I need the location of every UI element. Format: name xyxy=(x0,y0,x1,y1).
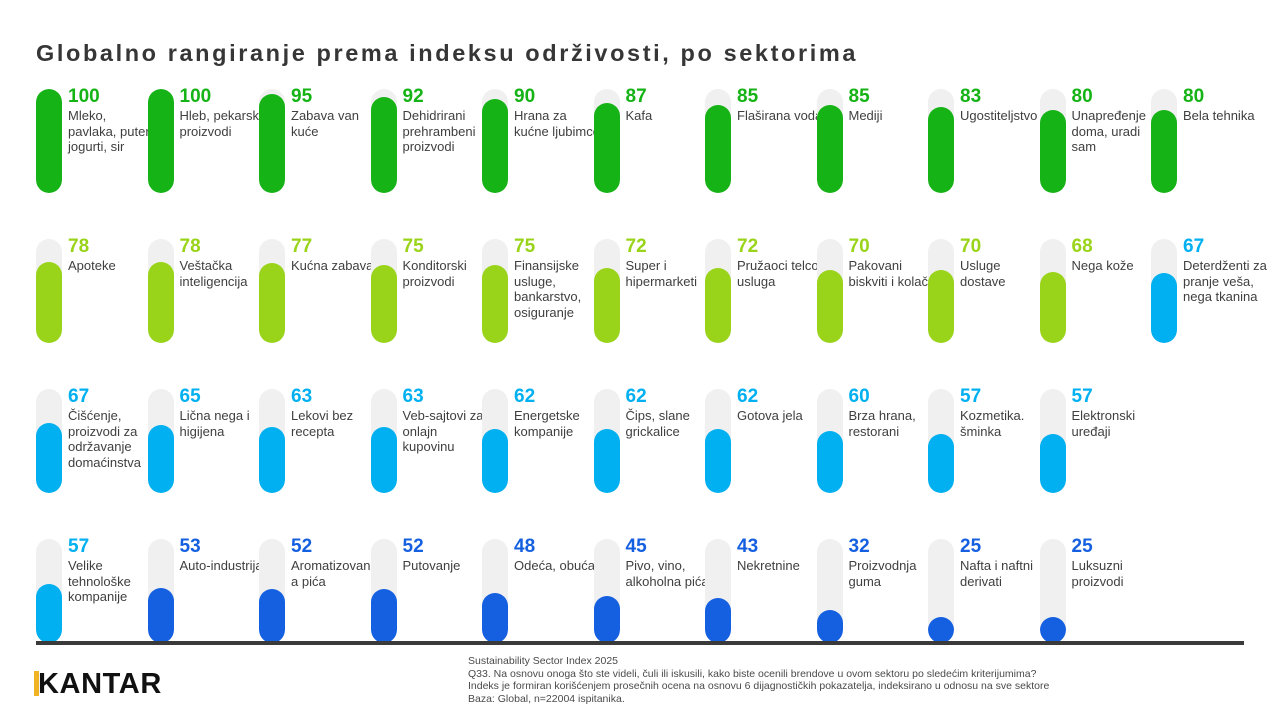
bar-label: Auto-industrija xyxy=(180,558,266,574)
bar-label: Finansijske usluge, bankarstvo, osiguran… xyxy=(514,258,600,320)
bar-text-group: 43Nekretnine xyxy=(737,536,823,574)
bar-row: 67Čišćenje, proizvodi za održavanje doma… xyxy=(36,386,1248,536)
sector-bar-item[interactable]: 60Brza hrana, restorani xyxy=(817,386,934,536)
bar-text-group: 75Konditorski proizvodi xyxy=(403,236,489,289)
bar-value: 65 xyxy=(180,386,266,407)
bar-text-group: 67Čišćenje, proizvodi za održavanje doma… xyxy=(68,386,154,470)
sector-bar-item[interactable]: 85Mediji xyxy=(817,86,934,236)
bar-fill xyxy=(36,89,62,193)
page-title: Globalno rangiranje prema indeksu održiv… xyxy=(36,40,858,67)
bar-fill xyxy=(148,262,174,343)
bar-fill xyxy=(705,268,731,343)
sector-bar-item[interactable]: 68Nega kože xyxy=(1040,236,1157,386)
bar-label: Kafa xyxy=(626,108,712,124)
bar-label: Bela tehnika xyxy=(1183,108,1269,124)
bar-value: 57 xyxy=(1072,386,1158,407)
bar-track xyxy=(371,539,397,643)
bar-label: Kućna zabava xyxy=(291,258,377,274)
bar-value: 72 xyxy=(737,236,823,257)
bar-value: 75 xyxy=(403,236,489,257)
bar-track xyxy=(148,239,174,343)
bar-label: Odeća, obuća xyxy=(514,558,600,574)
bar-fill xyxy=(148,425,174,493)
sector-bar-item[interactable]: 90Hrana za kućne ljubimce xyxy=(482,86,599,236)
sector-bar-item[interactable]: 70Usluge dostave xyxy=(928,236,1045,386)
bar-label: Zabava van kuće xyxy=(291,108,377,139)
bar-value: 52 xyxy=(403,536,489,557)
sector-bar-item[interactable]: 67Deterdženti za pranje veša, nega tkani… xyxy=(1151,236,1268,386)
bar-label: Nega kože xyxy=(1072,258,1158,274)
bar-fill xyxy=(705,105,731,193)
sector-bar-item[interactable]: 67Čišćenje, proizvodi za održavanje doma… xyxy=(36,386,153,536)
bar-track xyxy=(1040,389,1066,493)
footnote-line: Sustainability Sector Index 2025 xyxy=(468,655,1258,668)
bar-label: Super i hipermarketi xyxy=(626,258,712,289)
bar-text-group: 52Aromatizovana pića xyxy=(291,536,377,589)
sector-bar-item[interactable]: 85Flaširana voda xyxy=(705,86,822,236)
bar-track xyxy=(259,389,285,493)
bar-text-group: 70Pakovani biskviti i kolači xyxy=(849,236,935,289)
bar-fill xyxy=(148,588,174,643)
bar-fill xyxy=(817,105,843,193)
bar-fill xyxy=(1151,273,1177,343)
bar-value: 77 xyxy=(291,236,377,257)
bar-label: Mleko, pavlaka, puter, jogurti, sir xyxy=(68,108,154,155)
bar-value: 70 xyxy=(849,236,935,257)
bar-track xyxy=(371,389,397,493)
bar-track xyxy=(594,389,620,493)
bar-track xyxy=(1040,239,1066,343)
bar-track xyxy=(817,389,843,493)
bar-text-group: 80Bela tehnika xyxy=(1183,86,1269,124)
bar-label: Pivo, vino, alkoholna pića xyxy=(626,558,712,589)
sector-bar-item[interactable]: 65Lična nega i higijena xyxy=(148,386,265,536)
bar-fill xyxy=(482,99,508,193)
bar-label: Deterdženti za pranje veša, nega tkanina xyxy=(1183,258,1269,305)
bar-text-group: 32Proizvodnja guma xyxy=(849,536,935,589)
bar-row: 100Mleko, pavlaka, puter, jogurti, sir10… xyxy=(36,86,1248,236)
footnote-block: Sustainability Sector Index 2025Q33. Na … xyxy=(468,655,1258,705)
bar-track xyxy=(928,539,954,643)
bar-value: 57 xyxy=(68,536,154,557)
bar-text-group: 57Velike tehnološke kompanije xyxy=(68,536,154,605)
bar-fill xyxy=(594,429,620,493)
sector-bar-item[interactable]: 75Finansijske usluge, bankarstvo, osigur… xyxy=(482,236,599,386)
sector-bar-item[interactable]: 87Kafa xyxy=(594,86,711,236)
footnote-line: Baza: Global, n=22004 ispitanika. xyxy=(468,693,1258,706)
bar-track xyxy=(482,539,508,643)
bar-text-group: 100Hleb, pekarski proizvodi xyxy=(180,86,266,139)
sector-bar-item[interactable]: 62Gotova jela xyxy=(705,386,822,536)
sector-bar-item[interactable]: 77Kućna zabava xyxy=(259,236,376,386)
bar-value: 25 xyxy=(960,536,1046,557)
bar-text-group: 85Mediji xyxy=(849,86,935,124)
bar-value: 43 xyxy=(737,536,823,557)
bar-value: 68 xyxy=(1072,236,1158,257)
bar-text-group: 60Brza hrana, restorani xyxy=(849,386,935,439)
sector-bar-item[interactable]: 80Bela tehnika xyxy=(1151,86,1268,236)
bar-label: Čips, slane grickalice xyxy=(626,408,712,439)
sector-bar-item[interactable]: 57Kozmetika. šminka xyxy=(928,386,1045,536)
bar-track xyxy=(594,539,620,643)
bar-track xyxy=(371,239,397,343)
bar-value: 60 xyxy=(849,386,935,407)
bar-value: 45 xyxy=(626,536,712,557)
bar-fill xyxy=(817,270,843,343)
bar-track xyxy=(928,389,954,493)
bar-track xyxy=(36,389,62,493)
bar-text-group: 67Deterdženti za pranje veša, nega tkani… xyxy=(1183,236,1269,305)
bar-track xyxy=(928,239,954,343)
bar-label: Lekovi bez recepta xyxy=(291,408,377,439)
sector-bar-item[interactable]: 63Lekovi bez recepta xyxy=(259,386,376,536)
bar-fill xyxy=(594,268,620,343)
bar-value: 72 xyxy=(626,236,712,257)
bar-fill xyxy=(371,97,397,193)
bar-text-group: 95Zabava van kuće xyxy=(291,86,377,139)
bar-label: Čišćenje, proizvodi za održavanje domaći… xyxy=(68,408,154,470)
bar-value: 85 xyxy=(737,86,823,107)
bar-track xyxy=(594,89,620,193)
bar-value: 90 xyxy=(514,86,600,107)
bar-text-group: 78Apoteke xyxy=(68,236,154,274)
bar-label: Flaširana voda xyxy=(737,108,823,124)
sector-bar-grid: 100Mleko, pavlaka, puter, jogurti, sir10… xyxy=(36,86,1248,660)
bar-value: 75 xyxy=(514,236,600,257)
bar-label: Luksuzni proizvodi xyxy=(1072,558,1158,589)
bar-fill xyxy=(259,263,285,343)
bar-label: Putovanje xyxy=(403,558,489,574)
bar-fill xyxy=(1151,110,1177,193)
bar-text-group: 57Elektronski uređaji xyxy=(1072,386,1158,439)
bar-value: 63 xyxy=(291,386,377,407)
sector-bar-item[interactable]: 62Energetske kompanije xyxy=(482,386,599,536)
sector-bar-item[interactable]: 57Elektronski uređaji xyxy=(1040,386,1157,536)
bar-value: 87 xyxy=(626,86,712,107)
bar-label: Brza hrana, restorani xyxy=(849,408,935,439)
bar-fill xyxy=(371,265,397,343)
bar-label: Apoteke xyxy=(68,258,154,274)
bar-text-group: 92Dehidrirani prehrambeni proizvodi xyxy=(403,86,489,155)
bar-text-group: 25Nafta i naftni derivati xyxy=(960,536,1046,589)
bar-text-group: 78Veštačka inteligencija xyxy=(180,236,266,289)
bar-track xyxy=(1151,89,1177,193)
bar-track xyxy=(1151,239,1177,343)
bar-fill xyxy=(259,94,285,193)
bar-fill xyxy=(705,598,731,643)
bar-label: Gotova jela xyxy=(737,408,823,424)
bar-track xyxy=(148,539,174,643)
bar-label: Dehidrirani prehrambeni proizvodi xyxy=(403,108,489,155)
bar-text-group: 62Čips, slane grickalice xyxy=(626,386,712,439)
bar-label: Pakovani biskviti i kolači xyxy=(849,258,935,289)
bar-text-group: 45Pivo, vino, alkoholna pića xyxy=(626,536,712,589)
bar-fill xyxy=(594,596,620,643)
bar-fill xyxy=(36,584,62,643)
bar-value: 53 xyxy=(180,536,266,557)
bar-value: 70 xyxy=(960,236,1046,257)
bar-track xyxy=(148,389,174,493)
bar-label: Nekretnine xyxy=(737,558,823,574)
bar-row: 78Apoteke78Veštačka inteligencija77Kućna… xyxy=(36,236,1248,386)
bar-label: Hleb, pekarski proizvodi xyxy=(180,108,266,139)
sector-bar-item[interactable]: 78Veštačka inteligencija xyxy=(148,236,265,386)
bar-text-group: 80Unapređenje doma, uradi sam xyxy=(1072,86,1158,155)
bar-value: 92 xyxy=(403,86,489,107)
bar-value: 80 xyxy=(1183,86,1269,107)
bar-track xyxy=(482,389,508,493)
bar-value: 83 xyxy=(960,86,1046,107)
bar-value: 67 xyxy=(1183,236,1269,257)
bar-track xyxy=(817,239,843,343)
footnote-line: Q33. Na osnovu onoga što ste videli, čul… xyxy=(468,668,1258,681)
bar-text-group: 85Flaširana voda xyxy=(737,86,823,124)
sector-bar-item[interactable]: 100Hleb, pekarski proizvodi xyxy=(148,86,265,236)
bar-fill xyxy=(928,270,954,343)
bar-fill xyxy=(817,610,843,643)
bar-value: 62 xyxy=(514,386,600,407)
sector-bar-item[interactable]: 100Mleko, pavlaka, puter, jogurti, sir xyxy=(36,86,153,236)
bar-value: 95 xyxy=(291,86,377,107)
bar-track xyxy=(1040,89,1066,193)
bar-value: 78 xyxy=(180,236,266,257)
bar-track xyxy=(259,539,285,643)
bar-label: Mediji xyxy=(849,108,935,124)
bar-fill xyxy=(259,427,285,493)
bar-track xyxy=(148,89,174,193)
bar-fill xyxy=(1040,617,1066,643)
sector-bar-item[interactable]: 95Zabava van kuće xyxy=(259,86,376,236)
bar-label: Elektronski uređaji xyxy=(1072,408,1158,439)
bar-track xyxy=(371,89,397,193)
bar-fill xyxy=(817,431,843,493)
bar-text-group: 25Luksuzni proizvodi xyxy=(1072,536,1158,589)
bar-track xyxy=(928,89,954,193)
bar-text-group: 77Kućna zabava xyxy=(291,236,377,274)
sector-bar-item[interactable]: 63Veb-sajtovi za onlajn kupovinu xyxy=(371,386,488,536)
bar-text-group: 62Gotova jela xyxy=(737,386,823,424)
bar-fill xyxy=(594,103,620,193)
bar-text-group: 87Kafa xyxy=(626,86,712,124)
bar-text-group: 65Lična nega i higijena xyxy=(180,386,266,439)
footnote-line: Indeks je formiran korišćenjem prosečnih… xyxy=(468,680,1258,693)
bar-track xyxy=(817,89,843,193)
bar-label: Usluge dostave xyxy=(960,258,1046,289)
bar-value: 48 xyxy=(514,536,600,557)
bar-fill xyxy=(36,262,62,343)
sector-bar-item[interactable]: 72Pružaoci telco usluga xyxy=(705,236,822,386)
bar-label: Kozmetika. šminka xyxy=(960,408,1046,439)
bar-label: Lična nega i higijena xyxy=(180,408,266,439)
bar-label: Hrana za kućne ljubimce xyxy=(514,108,600,139)
bar-text-group: 75Finansijske usluge, bankarstvo, osigur… xyxy=(514,236,600,320)
bar-track xyxy=(36,89,62,193)
bar-label: Veb-sajtovi za onlajn kupovinu xyxy=(403,408,489,455)
bar-fill xyxy=(928,617,954,643)
bar-text-group: 72Super i hipermarketi xyxy=(626,236,712,289)
bar-text-group: 72Pružaoci telco usluga xyxy=(737,236,823,289)
bar-value: 78 xyxy=(68,236,154,257)
bar-text-group: 68Nega kože xyxy=(1072,236,1158,274)
kantar-wordmark: KANTAR xyxy=(38,668,162,700)
bar-label: Konditorski proizvodi xyxy=(403,258,489,289)
bar-fill xyxy=(259,589,285,643)
bar-value: 85 xyxy=(849,86,935,107)
bar-fill xyxy=(928,107,954,193)
bar-fill xyxy=(371,427,397,493)
bar-label: Ugostiteljstvo xyxy=(960,108,1046,124)
bar-fill xyxy=(1040,272,1066,343)
bar-fill xyxy=(482,265,508,343)
bar-fill xyxy=(482,593,508,643)
bar-track xyxy=(705,239,731,343)
bar-track xyxy=(594,239,620,343)
sector-bar-item[interactable]: 78Apoteke xyxy=(36,236,153,386)
sector-bar-item[interactable]: 62Čips, slane grickalice xyxy=(594,386,711,536)
bar-fill xyxy=(482,429,508,493)
sector-bar-item[interactable]: 80Unapređenje doma, uradi sam xyxy=(1040,86,1157,236)
bar-track xyxy=(1040,539,1066,643)
bar-fill xyxy=(36,423,62,493)
bar-text-group: 53Auto-industrija xyxy=(180,536,266,574)
bar-label: Nafta i naftni derivati xyxy=(960,558,1046,589)
bar-value: 62 xyxy=(626,386,712,407)
bar-track xyxy=(482,89,508,193)
bar-text-group: 63Lekovi bez recepta xyxy=(291,386,377,439)
sector-bar-item[interactable]: 92Dehidrirani prehrambeni proizvodi xyxy=(371,86,488,236)
bar-label: Veštačka inteligencija xyxy=(180,258,266,289)
footer-divider xyxy=(36,641,1244,645)
bar-value: 57 xyxy=(960,386,1046,407)
bar-label: Unapređenje doma, uradi sam xyxy=(1072,108,1158,155)
bar-text-group: 63Veb-sajtovi za onlajn kupovinu xyxy=(403,386,489,455)
bar-track xyxy=(259,89,285,193)
bar-track xyxy=(36,539,62,643)
sector-bar-item[interactable]: 70Pakovani biskviti i kolači xyxy=(817,236,934,386)
bar-label: Aromatizovana pića xyxy=(291,558,377,589)
bar-track xyxy=(705,89,731,193)
bar-value: 62 xyxy=(737,386,823,407)
bar-fill xyxy=(1040,110,1066,193)
bar-fill xyxy=(928,434,954,493)
bar-text-group: 48Odeća, obuća xyxy=(514,536,600,574)
bar-track xyxy=(705,539,731,643)
bar-track xyxy=(482,239,508,343)
bar-text-group: 90Hrana za kućne ljubimce xyxy=(514,86,600,139)
bar-text-group: 83Ugostiteljstvo xyxy=(960,86,1046,124)
bar-text-group: 62Energetske kompanije xyxy=(514,386,600,439)
bar-label: Velike tehnološke kompanije xyxy=(68,558,154,605)
bar-label: Energetske kompanije xyxy=(514,408,600,439)
bar-value: 100 xyxy=(180,86,266,107)
bar-text-group: 57Kozmetika. šminka xyxy=(960,386,1046,439)
bar-fill xyxy=(148,89,174,193)
bar-value: 100 xyxy=(68,86,154,107)
bar-value: 32 xyxy=(849,536,935,557)
sector-bar-item[interactable]: 72Super i hipermarketi xyxy=(594,236,711,386)
bar-text-group: 100Mleko, pavlaka, puter, jogurti, sir xyxy=(68,86,154,155)
bar-track xyxy=(817,539,843,643)
bar-label: Pružaoci telco usluga xyxy=(737,258,823,289)
bar-track xyxy=(36,239,62,343)
bar-fill xyxy=(1040,434,1066,493)
bar-value: 67 xyxy=(68,386,154,407)
kantar-logo: KANTAR xyxy=(34,668,162,700)
bar-text-group: 70Usluge dostave xyxy=(960,236,1046,289)
bar-value: 52 xyxy=(291,536,377,557)
bar-value: 80 xyxy=(1072,86,1158,107)
sector-bar-item[interactable]: 75Konditorski proizvodi xyxy=(371,236,488,386)
bar-value: 63 xyxy=(403,386,489,407)
bar-fill xyxy=(371,589,397,643)
bar-label: Proizvodnja guma xyxy=(849,558,935,589)
bar-track xyxy=(259,239,285,343)
bar-text-group: 52Putovanje xyxy=(403,536,489,574)
sector-bar-item[interactable]: 83Ugostiteljstvo xyxy=(928,86,1045,236)
bar-value: 25 xyxy=(1072,536,1158,557)
bar-fill xyxy=(705,429,731,493)
bar-track xyxy=(705,389,731,493)
